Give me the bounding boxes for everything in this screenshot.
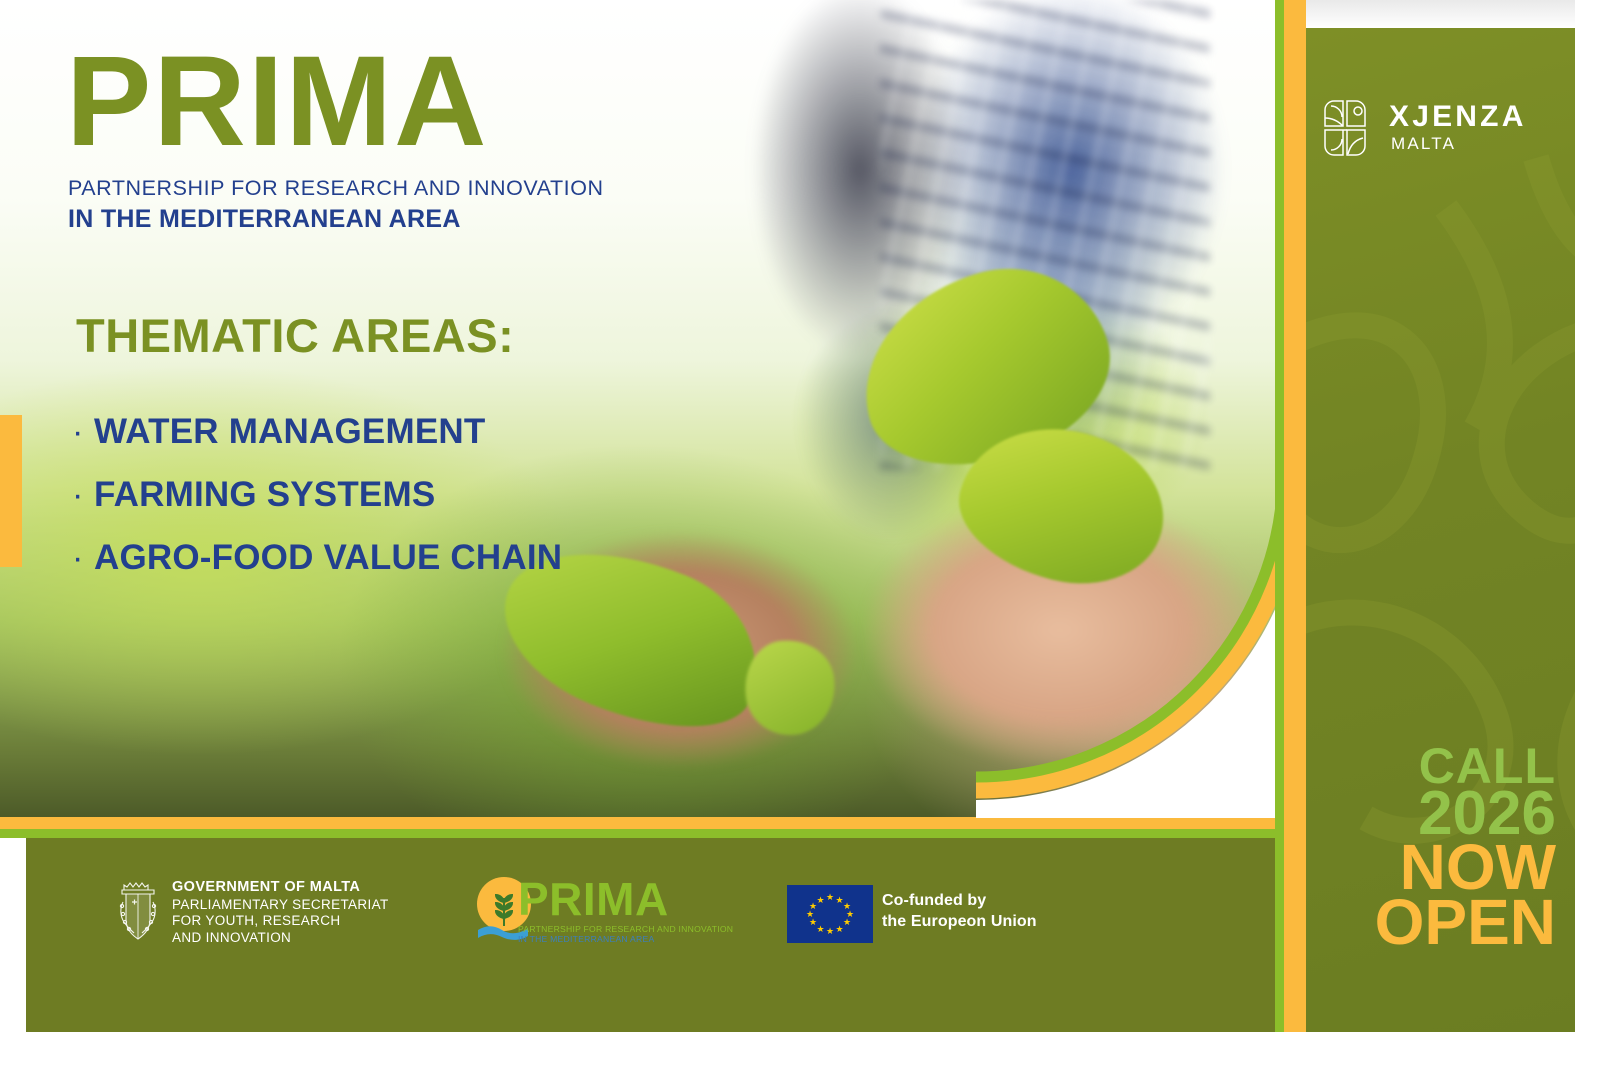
gov-line4: AND INNOVATION <box>172 930 389 946</box>
gov-line1: GOVERNMENT OF MALTA <box>172 879 389 897</box>
thematic-areas-list: · WATER MANAGEMENT · FARMING SYSTEMS · A… <box>68 400 562 589</box>
panel-top-white-strip <box>1306 0 1575 28</box>
panel-orange-accent-bar <box>1284 0 1306 1032</box>
panel-green-accent-bar <box>1275 0 1284 1032</box>
bullet-icon: · <box>68 478 94 512</box>
list-item: · WATER MANAGEMENT <box>68 400 562 463</box>
call-announcement: CALL 2026 NOW OPEN <box>1306 745 1556 950</box>
malta-coat-of-arms-icon <box>110 872 166 944</box>
xjenza-location-label: MALTA <box>1391 134 1456 154</box>
gov-line3: FOR YOUTH, RESEARCH <box>172 913 389 929</box>
bullet-icon: · <box>68 541 94 575</box>
european-union-flag-icon: ★ ★ ★ ★ ★ ★ ★ ★ ★ ★ ★ ★ <box>787 885 873 943</box>
list-item: · FARMING SYSTEMS <box>68 463 562 526</box>
prima-footer-tagline1: PARTNERSHIP FOR RESEARCH AND INNOVATION <box>518 924 733 934</box>
prima-footer-logo-text: PRIMA PARTNERSHIP FOR RESEARCH AND INNOV… <box>518 876 733 944</box>
eu-funding-text: Co-funded by the Europeon Union <box>882 890 1037 932</box>
list-item-label: FARMING SYSTEMS <box>94 475 435 515</box>
list-item: · AGRO-FOOD VALUE CHAIN <box>68 526 562 589</box>
left-orange-accent-bar <box>0 415 22 567</box>
call-line-open: OPEN <box>1306 895 1556 950</box>
eu-line2: the Europeon Union <box>882 911 1037 932</box>
xjenza-malta-logo: XJENZA MALTA <box>1313 92 1553 166</box>
prima-footer-name: PRIMA <box>518 876 733 922</box>
eu-line1: Co-funded by <box>882 890 1037 911</box>
section-heading-thematic-areas: THEMATIC AREAS: <box>76 308 514 363</box>
brand-subtitle-line2: IN THE MEDITERRANEAN AREA <box>68 205 461 234</box>
bullet-icon: · <box>68 415 94 449</box>
footer-green-stripe <box>0 829 1290 838</box>
government-of-malta-text: GOVERNMENT OF MALTA PARLIAMENTARY SECRET… <box>172 879 389 946</box>
list-item-label: WATER MANAGEMENT <box>94 412 485 452</box>
brand-subtitle-line1: PARTNERSHIP FOR RESEARCH AND INNOVATION <box>68 176 604 201</box>
page-title: PRIMA <box>66 38 488 166</box>
prima-footer-tagline2: IN THE MEDITERRANEAN AREA <box>518 934 733 944</box>
gov-line2: PARLIAMENTARY SECRETARIAT <box>172 897 389 913</box>
footer-orange-stripe <box>0 817 1290 829</box>
prima-call-2026-poster: PRIMA PARTNERSHIP FOR RESEARCH AND INNOV… <box>0 0 1600 1067</box>
xjenza-pinwheel-icon <box>1313 96 1377 160</box>
list-item-label: AGRO-FOOD VALUE CHAIN <box>94 538 562 578</box>
xjenza-wordmark: XJENZA <box>1389 100 1527 134</box>
